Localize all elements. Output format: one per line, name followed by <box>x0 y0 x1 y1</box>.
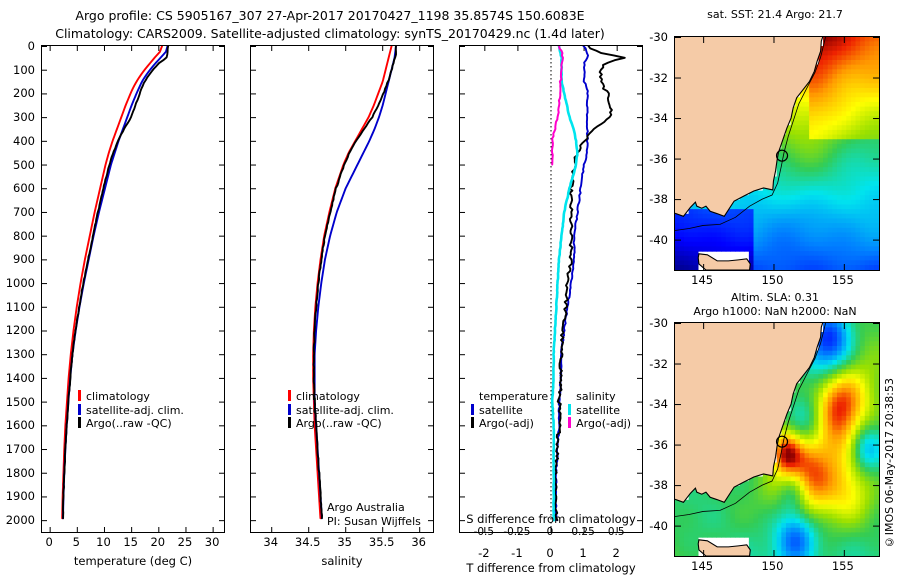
depth-tick-label: 600 <box>0 181 35 195</box>
temperature-difference-axis-label: T difference from climatology <box>455 561 647 575</box>
latitude-tick-label: -40 <box>640 519 668 533</box>
latitude-tick-label: -34 <box>640 111 668 125</box>
argo-program-name: Argo Australia <box>327 501 421 515</box>
legend-swatch-argo <box>78 417 81 428</box>
temperature-difference-tick-label: 2 <box>586 546 646 560</box>
legend-item-argo: Argo(..raw -QC) <box>78 417 184 431</box>
salinity-legend: climatology satellite-adj. clim. Argo(..… <box>288 390 394 431</box>
sst-map-x-axis: 145150155 <box>674 273 880 289</box>
depth-tick-label: 300 <box>0 110 35 124</box>
sst-map-canvas[interactable] <box>675 37 879 270</box>
depth-tick-label: 0 <box>0 39 35 53</box>
latitude-tick-label: -36 <box>640 152 668 166</box>
legend-label: Argo(..raw -QC) <box>296 417 382 430</box>
legend-label: Argo(-adj) <box>479 417 534 430</box>
legend-label: Argo(-adj) <box>576 417 631 430</box>
temperature-difference-x-axis: -2-1012 <box>459 546 643 560</box>
legend-item-temperature-satellite: satellite <box>471 404 548 418</box>
sla-map-x-axis: 145150155 <box>674 559 880 575</box>
temperature-x-axis: 051015202530 <box>41 535 225 551</box>
latitude-tick-label: -30 <box>640 30 668 44</box>
legend-item-climatology: climatology <box>288 390 394 404</box>
depth-tick-label: 1300 <box>0 347 35 361</box>
depth-tick-label: 1100 <box>0 300 35 314</box>
legend-label: climatology <box>296 390 360 403</box>
sst-map[interactable] <box>674 36 880 271</box>
sla-map-y-axis: -30-32-34-36-38-40 <box>640 322 672 557</box>
depth-tick-label: 1600 <box>0 418 35 432</box>
argo-program-note: Argo Australia PI: Susan Wijffels <box>327 501 421 528</box>
longitude-tick-label: 145 <box>672 559 732 573</box>
depth-tick-label: 200 <box>0 86 35 100</box>
latitude-tick-label: -36 <box>640 438 668 452</box>
depth-tick-label: 700 <box>0 205 35 219</box>
sla-map-title-line2: Argo h1000: NaN h2000: NaN <box>650 305 900 318</box>
salinity-profile-plot <box>251 46 433 532</box>
legend-swatch-satellite-adj <box>78 404 81 415</box>
depth-tick-label: 100 <box>0 63 35 77</box>
legend-label: satellite <box>576 404 620 417</box>
depth-tick-label: 1900 <box>0 489 35 503</box>
legend-item-satellite-adj: satellite-adj. clim. <box>288 404 394 418</box>
longitude-tick-label: 155 <box>813 273 873 287</box>
depth-tick-label: 800 <box>0 229 35 243</box>
difference-legend-salinity-group: salinity satellite Argo(-adj) <box>568 390 631 431</box>
difference-profile-plot <box>460 46 642 532</box>
salinity-difference-tick-label: 0.5 <box>586 526 646 538</box>
latitude-tick-label: -38 <box>640 192 668 206</box>
legend-item-temperature-argo: Argo(-adj) <box>471 417 548 431</box>
longitude-tick-label: 155 <box>813 559 873 573</box>
depth-tick-label: 1500 <box>0 395 35 409</box>
latitude-tick-label: -30 <box>640 316 668 330</box>
salinity-difference-x-axis: -0.5-0.2500.250.5 <box>459 526 643 540</box>
salinity-tick-label: 36 <box>389 535 449 549</box>
legend-item-salinity-satellite: satellite <box>568 404 631 418</box>
legend-heading-temperature: temperature <box>471 390 548 404</box>
legend-swatch-climatology <box>288 390 291 401</box>
latitude-tick-label: -32 <box>640 71 668 85</box>
legend-swatch-salinity-argo <box>568 417 571 428</box>
sla-map[interactable] <box>674 322 880 557</box>
temperature-panel <box>41 45 225 533</box>
temperature-axis-label: temperature (deg C) <box>41 554 225 568</box>
difference-panel <box>459 45 643 533</box>
longitude-tick-label: 150 <box>742 559 802 573</box>
depth-tick-label: 1400 <box>0 371 35 385</box>
temperature-legend: climatology satellite-adj. clim. Argo(..… <box>78 390 184 431</box>
legend-swatch-satellite-adj <box>288 404 291 415</box>
salinity-x-axis: 3434.53535.536 <box>250 535 434 551</box>
legend-swatch-temperature-satellite <box>471 404 474 415</box>
depth-tick-label: 900 <box>0 252 35 266</box>
latitude-tick-label: -32 <box>640 357 668 371</box>
legend-swatch-argo <box>288 417 291 428</box>
difference-legend: temperature satellite Argo(-adj) salinit… <box>471 390 646 431</box>
legend-label: climatology <box>86 390 150 403</box>
legend-swatch-salinity-satellite <box>568 404 571 415</box>
argo-pi-name: PI: Susan Wijffels <box>327 515 421 529</box>
temperature-profile-plot <box>42 46 224 532</box>
longitude-tick-label: 150 <box>742 273 802 287</box>
depth-tick-label: 1800 <box>0 466 35 480</box>
salinity-panel <box>250 45 434 533</box>
legend-label: satellite-adj. clim. <box>296 404 394 417</box>
depth-tick-label: 500 <box>0 158 35 172</box>
salinity-axis-label: salinity <box>250 554 434 568</box>
depth-tick-label: 1700 <box>0 442 35 456</box>
legend-item-climatology: climatology <box>78 390 184 404</box>
page-title-line1: Argo profile: CS 5905167_307 27-Apr-2017… <box>0 8 660 23</box>
page-title-line2: Climatology: CARS2009. Satellite-adjuste… <box>0 26 660 41</box>
sla-map-canvas[interactable] <box>675 323 879 556</box>
difference-legend-temperature-group: temperature satellite Argo(-adj) <box>471 390 548 431</box>
legend-item-salinity-argo: Argo(-adj) <box>568 417 631 431</box>
legend-label: satellite-adj. clim. <box>86 404 184 417</box>
legend-swatch-climatology <box>78 390 81 401</box>
legend-heading-salinity: salinity <box>568 390 631 404</box>
depth-tick-label: 1200 <box>0 323 35 337</box>
imos-credit: ©IMOS 06-May-2017 20:38:53 <box>883 378 896 548</box>
legend-item-argo: Argo(..raw -QC) <box>288 417 394 431</box>
salinity-difference-axis-label: S difference from climatology <box>455 512 647 526</box>
longitude-tick-label: 145 <box>672 273 732 287</box>
depth-tick-label: 1000 <box>0 276 35 290</box>
sla-map-title-line1: Altim. SLA: 0.31 <box>660 291 890 304</box>
depth-axis: 0100200300400500600700800900100011001200… <box>0 45 39 533</box>
legend-item-satellite-adj: satellite-adj. clim. <box>78 404 184 418</box>
latitude-tick-label: -34 <box>640 397 668 411</box>
depth-tick-label: 2000 <box>0 513 35 527</box>
sst-map-title: sat. SST: 21.4 Argo: 21.7 <box>660 8 890 21</box>
latitude-tick-label: -40 <box>640 233 668 247</box>
sst-map-y-axis: -30-32-34-36-38-40 <box>640 36 672 271</box>
legend-label: Argo(..raw -QC) <box>86 417 172 430</box>
legend-label: satellite <box>479 404 523 417</box>
temperature-tick-label: 30 <box>182 535 242 549</box>
legend-swatch-temperature-argo <box>471 417 474 428</box>
latitude-tick-label: -38 <box>640 478 668 492</box>
depth-tick-label: 400 <box>0 134 35 148</box>
